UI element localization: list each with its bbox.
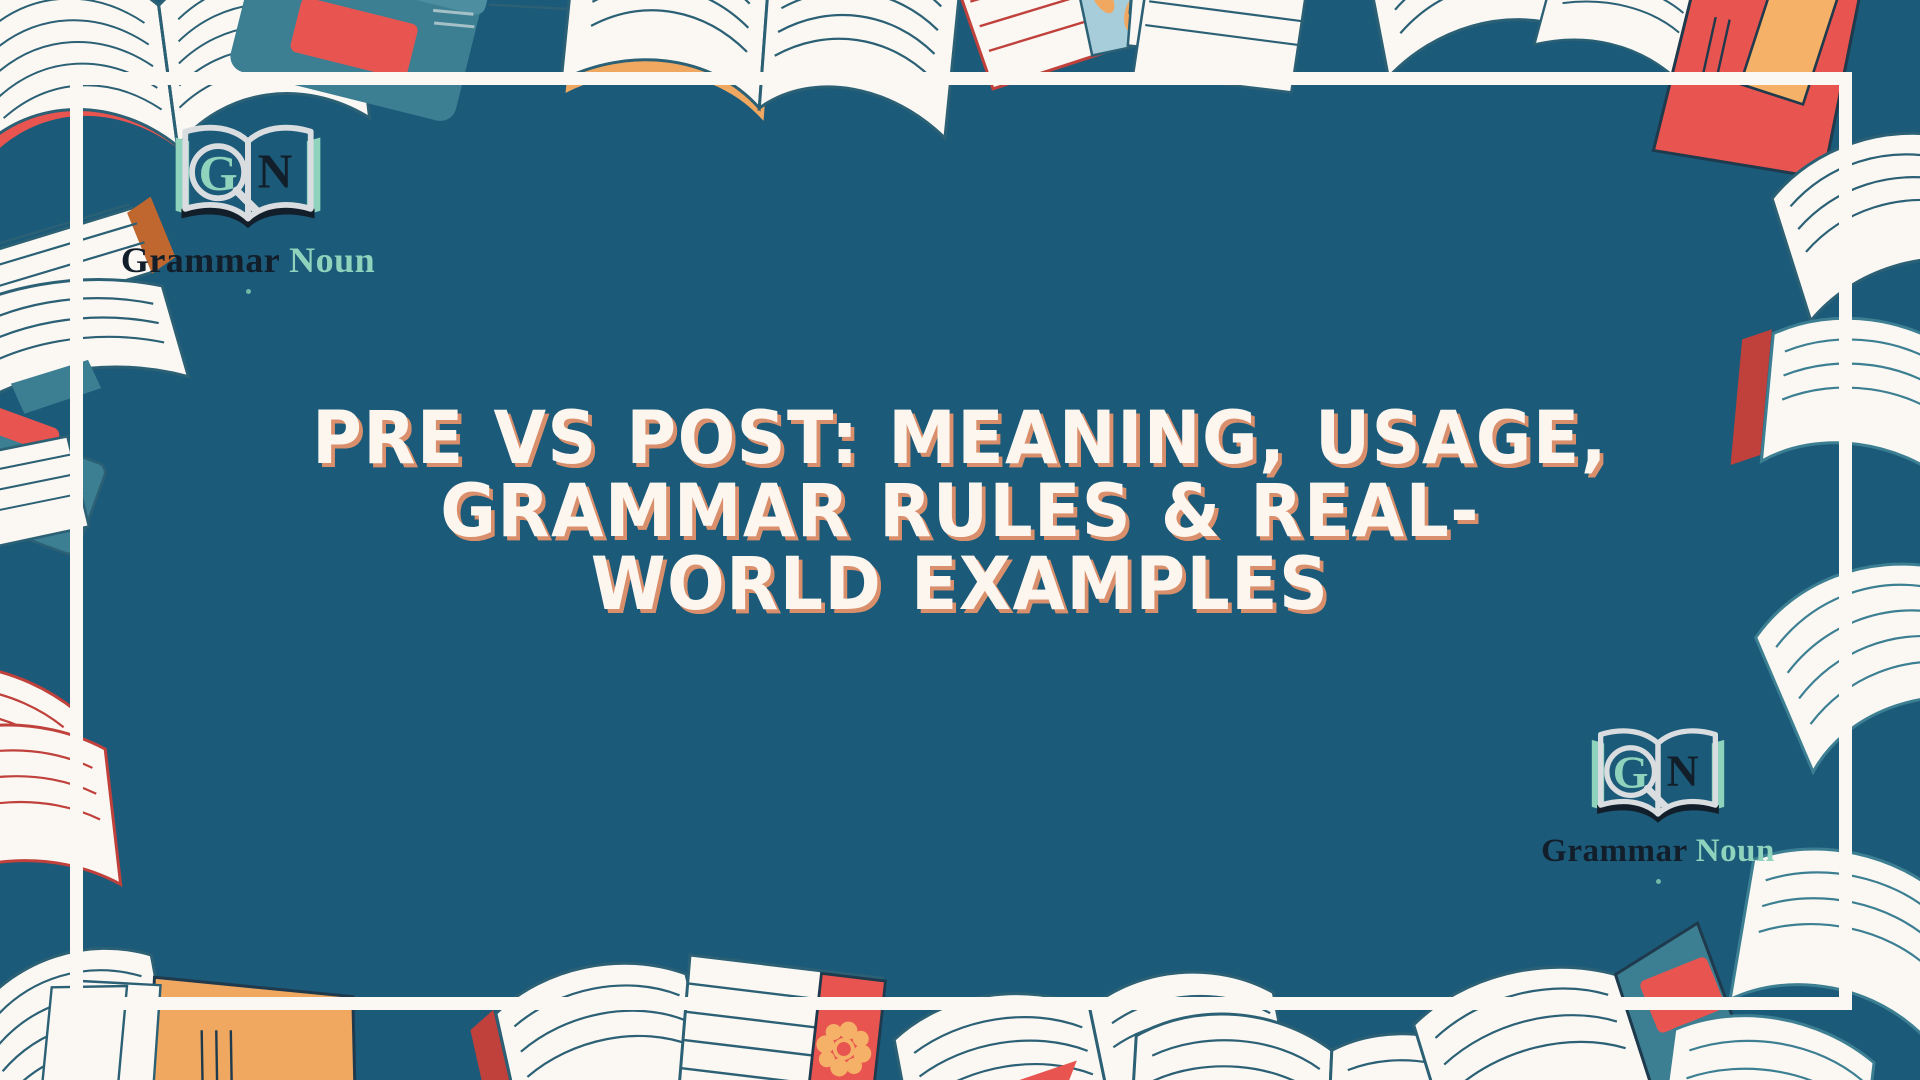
book-top-center-left <box>554 0 972 146</box>
brand-word-secondary: Noun <box>289 240 375 280</box>
logo-accent-dot <box>1656 879 1661 884</box>
book-left-bottom <box>0 717 121 899</box>
page-title: Pre vs Post: Meaning, Usage, Grammar Rul… <box>309 402 1611 621</box>
book-top-pages-right <box>1102 0 1326 112</box>
brand-wordmark: Grammar Noun <box>1530 835 1786 868</box>
title-block: Pre vs Post: Meaning, Usage, Grammar Rul… <box>260 402 1660 621</box>
brand-word-primary: Grammar <box>121 240 280 280</box>
brand-word-secondary: Noun <box>1696 833 1775 869</box>
brand-wordmark: Grammar Noun <box>108 242 388 278</box>
brand-logo-top-left: G N Grammar Noun <box>108 118 388 294</box>
book-bottom-left-orange <box>0 916 421 1080</box>
brand-logo-bottom-right: G N Grammar Noun <box>1530 722 1786 884</box>
svg-text:N: N <box>1667 747 1699 796</box>
brand-word-primary: Grammar <box>1541 833 1687 869</box>
book-right-red-edge <box>1725 303 1920 496</box>
svg-text:N: N <box>258 146 293 199</box>
open-book-magnifier-icon: G N <box>1583 722 1733 830</box>
logo-accent-dot <box>246 289 251 294</box>
open-book-magnifier-icon: G N <box>166 118 330 236</box>
featured-image-canvas: G N Grammar Noun Pre vs Post: Meaning, U… <box>0 0 1920 1080</box>
